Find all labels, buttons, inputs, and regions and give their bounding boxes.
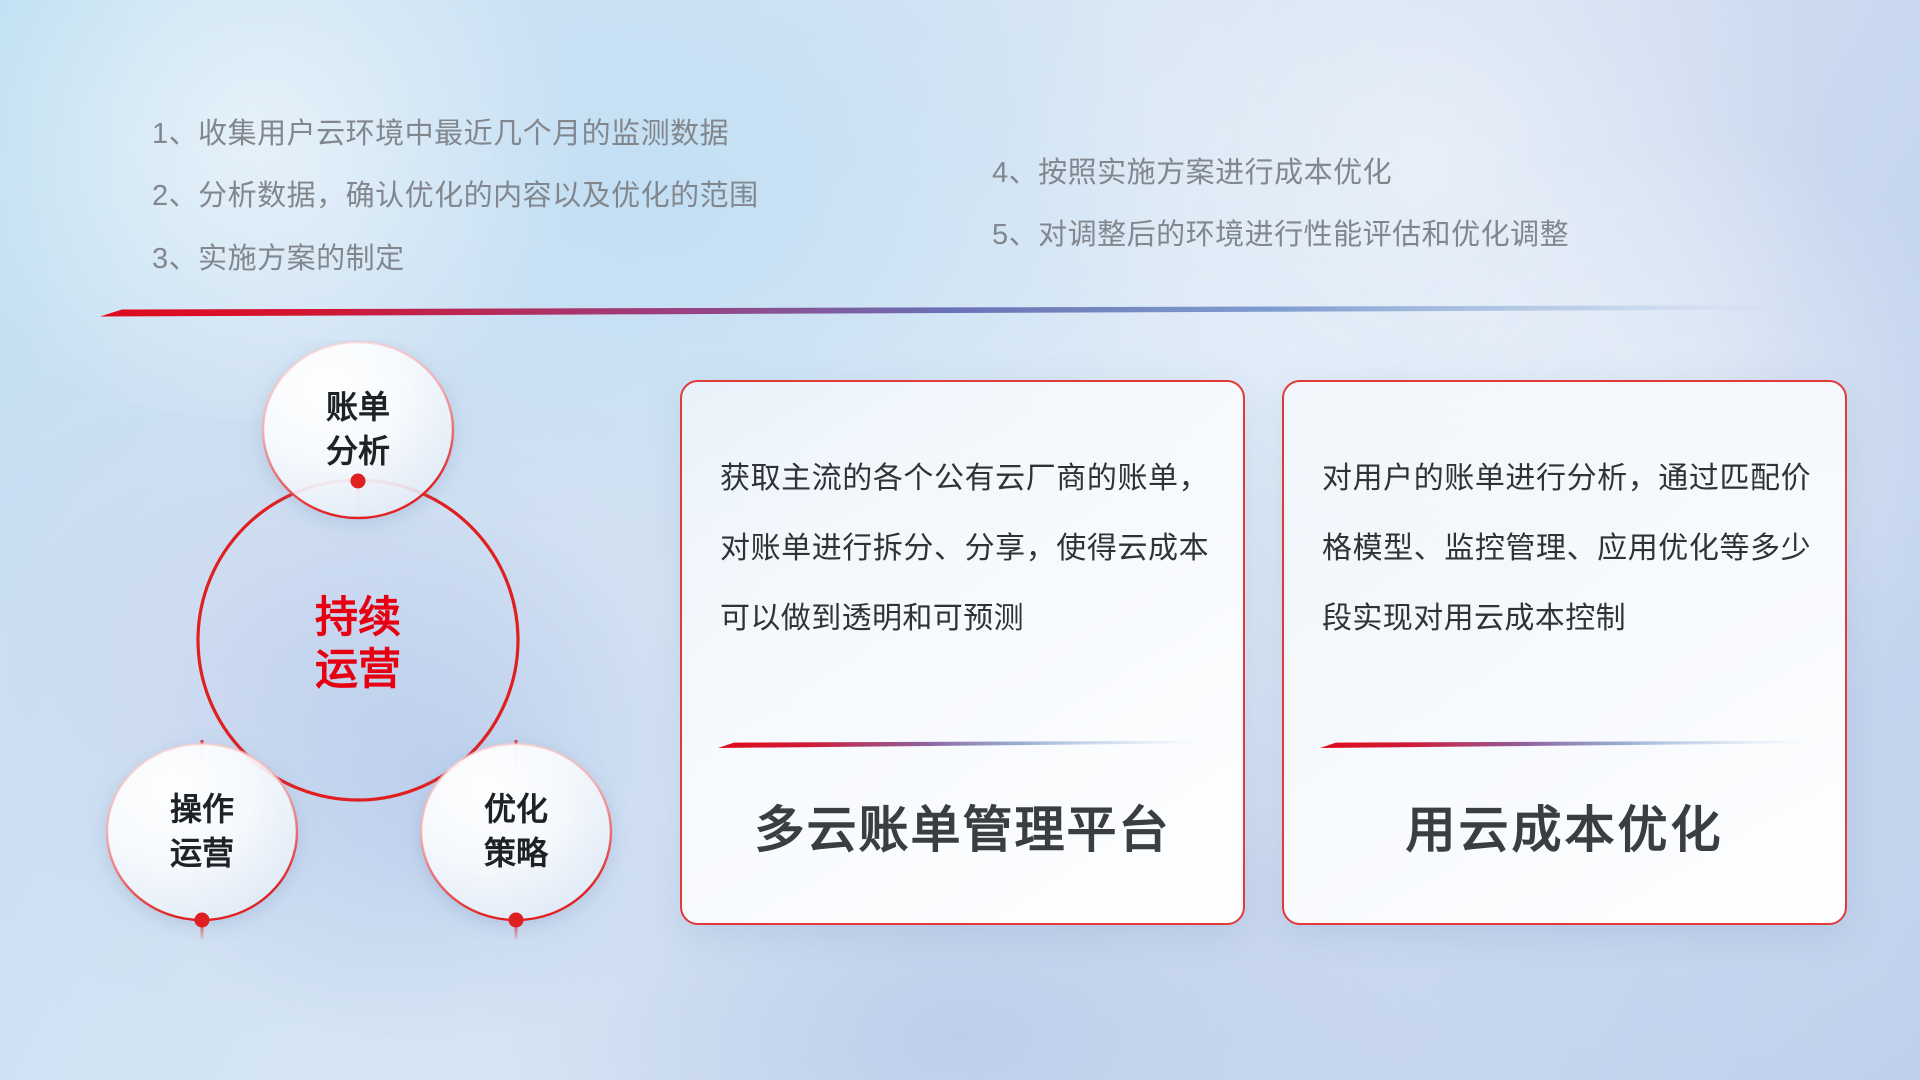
- venn-bubble-top-line2: 分析: [326, 433, 390, 469]
- steps-list-right: 4、按照实施方案进行成本优化 5、对调整后的环境进行性能评估和优化调整: [992, 157, 1569, 282]
- venn-bubble-top[interactable]: 账单 分析: [263, 342, 453, 518]
- step-item-3: 3、实施方案的制定: [152, 243, 759, 276]
- center-label-line2: 运营: [315, 646, 401, 694]
- feature-card-multicloud-billing[interactable]: 获取主流的各个公有云厂商的账单，对账单进行拆分、分享，使得云成本可以做到透明和可…: [680, 380, 1245, 925]
- slide-canvas: 1、收集用户云环境中最近几个月的监测数据 2、分析数据，确认优化的内容以及优化的…: [0, 0, 1920, 1080]
- step-item-2: 2、分析数据，确认优化的内容以及优化的范围: [152, 180, 759, 213]
- continuous-operations-venn: 持续 运营 账单 分析 操作 运营 优化 策略: [90, 340, 630, 940]
- feature-card-cloud-cost-optimization[interactable]: 对用户的账单进行分析，通过匹配价格模型、监控管理、应用优化等多少段实现对用云成本…: [1282, 380, 1847, 925]
- card-1-rule: [718, 740, 1210, 749]
- venn-bubble-bottom-left-line2: 运营: [170, 835, 234, 871]
- center-label-line1: 持续: [315, 594, 401, 642]
- connector-dot-top: [351, 474, 366, 489]
- steps-list-left: 1、收集用户云环境中最近几个月的监测数据 2、分析数据，确认优化的内容以及优化的…: [152, 118, 759, 305]
- venn-bubble-top-line1: 账单: [326, 389, 390, 425]
- card-1-title: 多云账单管理平台: [682, 790, 1243, 862]
- card-2-rule: [1320, 740, 1812, 749]
- venn-bubble-bottom-right-line2: 策略: [484, 835, 549, 871]
- venn-bubble-bottom-left-line1: 操作: [170, 791, 234, 827]
- card-2-title: 用云成本优化: [1284, 790, 1845, 862]
- step-item-1: 1、收集用户云环境中最近几个月的监测数据: [152, 118, 759, 151]
- card-2-body: 对用户的账单进行分析，通过匹配价格模型、监控管理、应用优化等多少段实现对用云成本…: [1322, 444, 1811, 654]
- card-1-body: 获取主流的各个公有云厂商的账单，对账单进行拆分、分享，使得云成本可以做到透明和可…: [720, 444, 1209, 654]
- tail-stem-left: [201, 920, 204, 940]
- step-item-5: 5、对调整后的环境进行性能评估和优化调整: [992, 219, 1569, 252]
- tail-stem-right: [515, 920, 518, 940]
- section-divider: [100, 304, 1788, 318]
- venn-bubble-bottom-right-line1: 优化: [484, 791, 548, 827]
- venn-bubble-bottom-left[interactable]: 操作 运营: [107, 744, 297, 920]
- venn-bubble-bottom-right[interactable]: 优化 策略: [421, 744, 611, 920]
- step-item-4: 4、按照实施方案进行成本优化: [992, 157, 1569, 190]
